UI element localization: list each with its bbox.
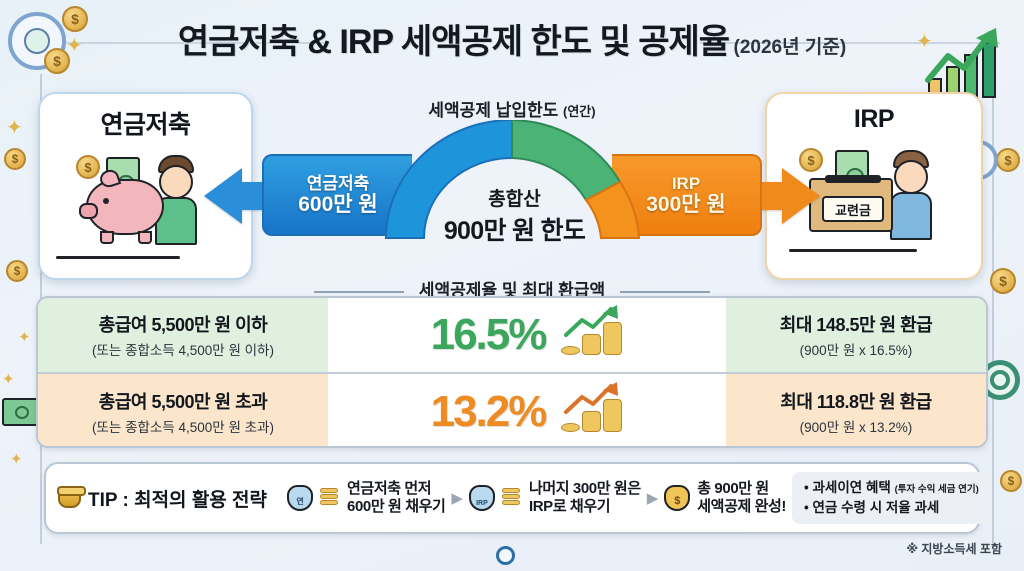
footnote: ※ 지방소득세 포함 [906, 540, 1002, 557]
condition-sub: (또는 종합소득 4,500만 원 초과) [92, 416, 274, 436]
arch-caption: 세액공제 납입한도 (연간) [262, 96, 762, 121]
max-refund-cell: 최대 148.5만 원 환급 (900만 원 x 16.5%) [726, 298, 986, 372]
tip-step-2-line1: 나머지 300만 원은 [529, 480, 641, 497]
honey-pot-icon [58, 489, 81, 508]
chevron-right-icon: ▶ [647, 489, 659, 507]
tip-strategy-bar: TIP : 최적의 활용 전략 연 연금저축 먼저 600만 원 채우기 ▶ I… [44, 462, 980, 534]
tip-title: TIP : 최적의 활용 전략 [58, 485, 267, 512]
condition-main: 총급여 5,500만 원 초과 [99, 388, 267, 414]
total-limit-label: 총합산 900만 원 한도 [432, 184, 597, 247]
tip-step-1-line1: 연금저축 먼저 [347, 480, 431, 497]
coin-stack-icon [320, 486, 340, 510]
title-main-text: 연금저축 & IRP 세액공제 한도 및 공제율 [178, 23, 729, 61]
coin-icon: $ [1000, 470, 1022, 492]
deduction-rate-value: 16.5% [431, 313, 546, 357]
tip-step-2-text: 나머지 300만 원은 IRP로 채우기 [529, 480, 641, 516]
money-bag-icon: 연 [287, 485, 313, 511]
target-inner [990, 370, 1010, 390]
deduction-rate-value: 13.2% [431, 390, 546, 434]
loading-ring-icon [496, 546, 515, 565]
piggy-leg [100, 231, 114, 244]
sparkle-icon: ✦ [6, 118, 23, 138]
piggy-eye [103, 198, 109, 204]
title-subtitle-text: (2026년 기준) [734, 37, 847, 58]
piggy-body [86, 179, 164, 235]
desk-line [789, 249, 917, 252]
coin-disc [561, 423, 580, 432]
coin-stack-icon [561, 312, 623, 358]
chevron-right-icon: ▶ [451, 489, 463, 507]
tip-step-3-line2: 세액공제 완성! [697, 498, 786, 515]
desk-line [56, 256, 180, 259]
refund-sub: (900만 원 x 13.2%) [800, 416, 913, 436]
irp-box-label: 교련금 [822, 196, 884, 222]
arch-caption-main: 세액공제 납입한도 [428, 101, 558, 120]
coin-disc [603, 399, 622, 432]
total-limit-line1: 총합산 [432, 184, 597, 211]
sparkle-icon: ✦ [10, 452, 23, 467]
tip-step-2[interactable]: IRP 나머지 300만 원은 IRP로 채우기 [469, 480, 641, 516]
income-condition-cell: 총급여 5,500만 원 이하 (또는 종합소득 4,500만 원 이하) [38, 298, 328, 372]
irp-pill-label: IRP [672, 174, 700, 193]
arrow-right-icon [782, 168, 820, 224]
money-bag-icon: $ [664, 485, 690, 511]
coin-stack-icon [561, 389, 623, 435]
money-bag-icon: IRP [469, 485, 495, 511]
coin-icon: $ [4, 148, 26, 170]
irp-title: IRP [767, 94, 981, 134]
deduction-rate-cell: 16.5% [328, 298, 726, 372]
tip-step-3[interactable]: $ 총 900만 원 세액공제 완성! [664, 480, 786, 516]
person-body [890, 192, 932, 240]
sparkle-icon: ✦ [2, 372, 15, 387]
condition-main: 총급여 5,500만 원 이하 [99, 311, 267, 337]
tip-title-text: TIP : 최적의 활용 전략 [88, 485, 267, 512]
pension-savings-title: 연금저축 [40, 94, 251, 141]
box-slot [825, 175, 881, 183]
pension-savings-pill-value: 600만 원 [298, 193, 378, 217]
rate-table: 총급여 5,500만 원 이하 (또는 종합소득 4,500만 원 이하) 16… [36, 296, 988, 448]
irp-pill-value: 300만 원 [646, 193, 726, 217]
tip-step-3-line1: 총 900만 원 [697, 480, 769, 497]
tip-note-1-text: 과세이연 혜택 [813, 480, 891, 495]
coin-disc [582, 334, 601, 355]
pension-savings-pill-label: 연금저축 [307, 174, 370, 193]
coin-disc [603, 322, 622, 355]
infographic-stage: $ $ ✦ ✦ $ $ ✦ ✦ ✦ ✦ $ $ $ 연금저축 & IRP 세액공… [0, 0, 1024, 571]
arch-caption-sub: (연간) [563, 104, 596, 119]
piggy-leg [138, 231, 152, 244]
irp-deposit-box: 교련금 [809, 178, 893, 232]
table-row[interactable]: 총급여 5,500만 원 이하 (또는 종합소득 4,500만 원 이하) 16… [38, 298, 986, 374]
tip-step-2-line2: IRP로 채우기 [529, 498, 610, 515]
tip-step-1[interactable]: 연 연금저축 먼저 600만 원 채우기 [287, 480, 445, 516]
tip-note-1: • 과세이연 혜택 (투자 수익 세금 연기) [804, 478, 979, 498]
coin-stack-icon [502, 486, 522, 510]
tip-note-2: • 연금 수령 시 저율 과세 [804, 498, 979, 518]
refund-main: 최대 118.8만 원 환급 [780, 388, 931, 414]
page-title: 연금저축 & IRP 세액공제 한도 및 공제율 (2026년 기준) [0, 14, 1024, 63]
refund-sub: (900만 원 x 16.5%) [800, 339, 913, 359]
condition-sub: (또는 종합소득 4,500만 원 이하) [92, 339, 274, 359]
total-limit-line2: 900만 원 한도 [432, 211, 597, 247]
coin-icon: $ [996, 148, 1020, 172]
deco-line-right [992, 74, 994, 544]
arrow-left-icon [204, 168, 242, 224]
sparkle-icon: ✦ [18, 330, 31, 345]
person-head [159, 165, 193, 199]
tip-note-2-text: 연금 수령 시 저율 과세 [813, 500, 940, 515]
deduction-rate-cell: 13.2% [328, 374, 726, 448]
max-refund-cell: 최대 118.8만 원 환급 (900만 원 x 13.2%) [726, 374, 986, 448]
refund-main: 최대 148.5만 원 환급 [780, 311, 932, 337]
tip-note-1-small: (투자 수익 세금 연기) [895, 484, 979, 495]
tip-benefit-notes: • 과세이연 혜택 (투자 수익 세금 연기) • 연금 수령 시 저율 과세 [792, 472, 991, 523]
piggy-snout [79, 203, 98, 219]
income-condition-cell: 총급여 5,500만 원 초과 (또는 종합소득 4,500만 원 초과) [38, 374, 328, 448]
coin-disc [582, 411, 601, 432]
coin-icon: $ [76, 155, 100, 179]
table-row[interactable]: 총급여 5,500만 원 초과 (또는 종합소득 4,500만 원 초과) 13… [38, 374, 986, 448]
person-head [894, 160, 928, 194]
banknote-inner [15, 406, 29, 419]
tip-step-1-text: 연금저축 먼저 600만 원 채우기 [347, 480, 445, 516]
coin-disc [561, 346, 580, 355]
tip-step-1-line2: 600만 원 채우기 [347, 498, 445, 515]
contribution-limit-arch: 세액공제 납입한도 (연간) 연금저축 600만 원 IRP 300만 원 총합… [262, 96, 762, 280]
tip-step-3-text: 총 900만 원 세액공제 완성! [697, 480, 786, 516]
